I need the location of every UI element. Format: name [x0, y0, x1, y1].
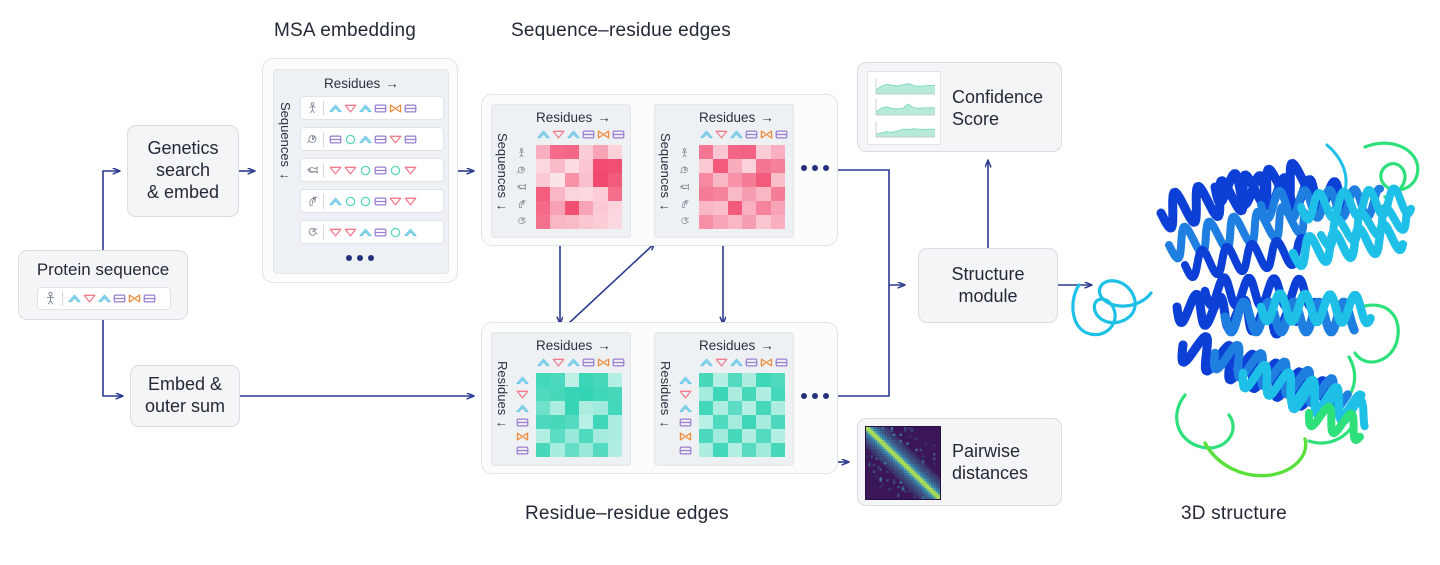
- heatmap-cell: [565, 215, 579, 229]
- heatmap-cell: [565, 401, 579, 415]
- residue-glyph-bow: [759, 127, 774, 142]
- strip-divider: [323, 163, 324, 178]
- residue-glyph-up: [403, 225, 418, 240]
- heatmap-cell: [771, 201, 785, 215]
- msa-row: [300, 189, 444, 213]
- heatmap-cell: [713, 173, 727, 187]
- organism-icon-bird: [516, 198, 527, 210]
- sr2-axis-top: Residues →: [699, 110, 774, 125]
- heatmap-cell: [728, 443, 742, 457]
- residue-glyph-row: [328, 194, 418, 209]
- organism-icon-worm: [516, 215, 527, 227]
- heatmap-cell: [565, 201, 579, 215]
- side-residue: [515, 429, 532, 443]
- heatmap-cell: [728, 187, 742, 201]
- heatmap-cell: [728, 173, 742, 187]
- heatmap-cell: [608, 373, 622, 387]
- organism-icon-mouse: [516, 164, 527, 176]
- heatmap-cell: [550, 373, 564, 387]
- residue-glyph-up: [328, 101, 343, 116]
- organism-icon-human: [516, 147, 527, 159]
- side-residue: [515, 387, 532, 401]
- heatmap-cell: [579, 201, 593, 215]
- heatmap-cell: [536, 443, 550, 457]
- sr1-axis-left: Sequences ↓: [495, 133, 510, 231]
- heatmap-cell: [699, 443, 713, 457]
- heatmap-cell: [699, 401, 713, 415]
- heatmap-cell: [550, 415, 564, 429]
- msa-axis-top-label: Residues: [324, 76, 380, 91]
- pairwise-distances-box[interactable]: Pairwise distances: [857, 418, 1062, 506]
- protein-ribbon-svg: [1065, 95, 1440, 485]
- heatmap-cell: [608, 187, 622, 201]
- heatmap-cell: [536, 201, 550, 215]
- sr2-axis-top-label: Residues: [699, 110, 755, 125]
- arrow-down-icon: ↓: [495, 421, 510, 428]
- heatmap-cell: [771, 415, 785, 429]
- heatmap-cell: [713, 387, 727, 401]
- sr1-side-organisms: [516, 145, 532, 229]
- heatmap-cell: [771, 373, 785, 387]
- heatmap-cell: [565, 429, 579, 443]
- heatmap-cell: [728, 387, 742, 401]
- caption-msa-embedding: MSA embedding: [274, 20, 416, 42]
- sr1-axis-top: Residues →: [536, 110, 611, 125]
- protein-sequence-box: Protein sequence: [18, 250, 188, 320]
- residue-glyph-up: [536, 127, 551, 142]
- heatmap-cell: [713, 429, 727, 443]
- heatmap-cell: [608, 159, 622, 173]
- heatmap-cell: [579, 145, 593, 159]
- residue-glyph-down: [343, 101, 358, 116]
- residue-glyph-rect: [678, 443, 693, 458]
- rr2-axis-left: Residues ↓: [658, 361, 673, 459]
- heatmap-cell: [536, 415, 550, 429]
- residue-glyph-down: [403, 194, 418, 209]
- confidence-score-box[interactable]: Confidence Score: [857, 62, 1062, 152]
- heatmap-cell: [728, 145, 742, 159]
- heatmap-cell: [550, 387, 564, 401]
- heatmap-cell: [579, 173, 593, 187]
- residue-residue-panel-1: Residues → Residues ↓: [491, 332, 631, 466]
- coil-loop: [1177, 395, 1233, 448]
- residue-glyph-up: [566, 127, 581, 142]
- organism-icon-fish: [516, 181, 527, 193]
- side-organism: [516, 162, 532, 179]
- residue-glyph-down: [403, 163, 418, 178]
- heatmap-cell: [699, 201, 713, 215]
- heatmap-cell: [608, 401, 622, 415]
- heatmap-cell: [713, 145, 727, 159]
- residue-glyph-down: [343, 163, 358, 178]
- heatmap-cell: [565, 159, 579, 173]
- side-organism: [679, 212, 695, 229]
- pairwise-distance-matrix-thumbnail: [865, 426, 941, 500]
- heatmap-cell: [742, 401, 756, 415]
- side-organism: [679, 179, 695, 196]
- heatmap-cell: [713, 159, 727, 173]
- sr1-axis-left-label: Sequences: [495, 133, 510, 198]
- residue-glyph-up: [678, 373, 693, 388]
- rr1-side-glyphs: [515, 373, 532, 457]
- residue-glyph-rect: [515, 415, 530, 430]
- heatmap-cell: [608, 145, 622, 159]
- arrow-right-icon: →: [385, 76, 399, 91]
- confidence-sparkline: [871, 120, 937, 139]
- residue-glyph-down: [678, 387, 693, 402]
- embed-and-outer-sum-box[interactable]: Embed & outer sum: [130, 365, 240, 427]
- sequence-residue-edges-container: Residues → Sequences ↓ Residues → Sequen…: [481, 94, 838, 246]
- heatmap-cell: [565, 387, 579, 401]
- heatmap-cell: [579, 401, 593, 415]
- heatmap-cell: [771, 401, 785, 415]
- rr1-heatmap: [536, 373, 622, 457]
- heatmap-cell: [756, 187, 770, 201]
- strip-divider: [323, 225, 324, 240]
- heatmap-cell: [550, 201, 564, 215]
- residue-glyph-rect: [373, 163, 388, 178]
- heatmap-cell: [756, 429, 770, 443]
- residue-glyph-rect: [774, 127, 789, 142]
- rr1-axis-top: Residues →: [536, 338, 611, 353]
- heatmap-cell: [536, 373, 550, 387]
- heatmap-cell: [742, 173, 756, 187]
- residue-glyph-circ: [388, 225, 403, 240]
- heatmap-cell: [742, 159, 756, 173]
- arrow-right-icon: →: [597, 110, 611, 125]
- side-residue: [678, 387, 695, 401]
- heatmap-cell: [713, 415, 727, 429]
- residue-glyph-rect: [611, 355, 626, 370]
- residue-glyph-circ: [343, 194, 358, 209]
- heatmap-cell: [579, 373, 593, 387]
- sr2-header-glyphs: [699, 127, 789, 142]
- heatmap-cell: [608, 443, 622, 457]
- structure-module-box[interactable]: Structure module: [918, 248, 1058, 323]
- rr2-heatmap: [699, 373, 785, 457]
- arrow-down-icon: ↓: [495, 204, 510, 211]
- heatmap-cell: [550, 215, 564, 229]
- residue-glyph-circ: [358, 163, 373, 178]
- heatmap-cell: [593, 443, 607, 457]
- heatmap-cell: [608, 173, 622, 187]
- organism-icon-human: [306, 101, 319, 115]
- residue-glyph-up: [729, 355, 744, 370]
- heatmap-cell: [756, 443, 770, 457]
- residue-glyph-rect: [744, 355, 759, 370]
- residue-glyph-up: [729, 127, 744, 142]
- heatmap-cell: [536, 173, 550, 187]
- residue-glyph-bow: [515, 429, 530, 444]
- heatmap-cell: [699, 173, 713, 187]
- heatmap-cell: [593, 173, 607, 187]
- heatmap-cell: [771, 443, 785, 457]
- heatmap-cell: [593, 159, 607, 173]
- genetics-search-and-embed-box[interactable]: Genetics search & embed: [127, 125, 239, 217]
- heatmap-cell: [579, 429, 593, 443]
- heatmap-cell: [536, 215, 550, 229]
- heatmap-cell: [593, 201, 607, 215]
- residue-glyph-bow: [678, 429, 693, 444]
- residue-glyph-up: [358, 101, 373, 116]
- residue-glyph-row-main: [67, 291, 157, 306]
- residue-glyph-rect: [403, 132, 418, 147]
- residue-glyph-down: [388, 132, 403, 147]
- heatmap-cell: [593, 387, 607, 401]
- msa-embedding-container: Residues → Sequences ↓: [262, 58, 458, 283]
- heatmap-cell: [771, 173, 785, 187]
- side-residue: [678, 443, 695, 457]
- heatmap-cell: [713, 401, 727, 415]
- caption-sequence-residue-edges: Sequence–residue edges: [511, 20, 731, 42]
- heatmap-cell: [565, 173, 579, 187]
- residue-glyph-rect: [373, 194, 388, 209]
- rr1-axis-top-label: Residues: [536, 338, 592, 353]
- side-organism: [516, 212, 532, 229]
- residue-glyph-rect: [611, 127, 626, 142]
- rr2-side-glyphs: [678, 373, 695, 457]
- residue-glyph-circ: [358, 194, 373, 209]
- heatmap-cell: [742, 387, 756, 401]
- heatmap-cell: [756, 415, 770, 429]
- heatmap-cell: [756, 387, 770, 401]
- confidence-sparkline: [871, 98, 937, 117]
- residue-glyph-up: [566, 355, 581, 370]
- side-residue: [678, 415, 695, 429]
- heatmap-cell: [593, 429, 607, 443]
- arrow-right-icon: →: [760, 110, 774, 125]
- side-residue: [678, 401, 695, 415]
- side-residue: [515, 415, 532, 429]
- heatmap-cell: [565, 443, 579, 457]
- heatmap-cell: [728, 429, 742, 443]
- heatmap-cell: [579, 387, 593, 401]
- msa-row: [300, 127, 444, 151]
- sr1-header-glyphs: [536, 127, 626, 142]
- heatmap-cell: [699, 415, 713, 429]
- arrow-down-icon: ↓: [658, 421, 673, 428]
- residue-glyph-down: [82, 291, 97, 306]
- residue-glyph-rect: [112, 291, 127, 306]
- heatmap-cell: [771, 187, 785, 201]
- strip-divider: [323, 101, 324, 116]
- residue-glyph-rect: [328, 132, 343, 147]
- heatmap-cell: [565, 145, 579, 159]
- organism-icon-fish: [306, 163, 319, 177]
- residue-glyph-down: [343, 225, 358, 240]
- heatmap-cell: [756, 145, 770, 159]
- heatmap-cell: [728, 159, 742, 173]
- heatmap-cell: [742, 429, 756, 443]
- heatmap-cell: [713, 201, 727, 215]
- heatmap-cell: [713, 215, 727, 229]
- organism-icon-mouse: [306, 132, 319, 146]
- heatmap-cell: [593, 373, 607, 387]
- side-organism: [679, 162, 695, 179]
- sr2-axis-left: Sequences ↓: [658, 133, 673, 231]
- heatmap-cell: [593, 401, 607, 415]
- rr1-axis-left: Residues ↓: [495, 361, 510, 459]
- strip-divider: [62, 291, 63, 306]
- heatmap-cell: [728, 201, 742, 215]
- residue-glyph-down: [714, 355, 729, 370]
- heatmap-cell: [771, 215, 785, 229]
- residue-residue-more-dots: [801, 393, 829, 399]
- residue-glyph-up: [328, 194, 343, 209]
- heatmap-cell: [771, 159, 785, 173]
- heatmap-cell: [579, 443, 593, 457]
- side-organism: [679, 145, 695, 162]
- heatmap-cell: [550, 401, 564, 415]
- pairwise-svg: [866, 427, 941, 500]
- residue-glyph-rect: [373, 132, 388, 147]
- heatmap-cell: [579, 215, 593, 229]
- sr1-axis-top-label: Residues: [536, 110, 592, 125]
- heatmap-cell: [579, 187, 593, 201]
- heatmap-cell: [565, 187, 579, 201]
- pairwise-distances-label: Pairwise distances: [952, 441, 1028, 485]
- heatmap-cell: [742, 443, 756, 457]
- msa-axis-left-label: Sequences: [278, 102, 293, 167]
- sr2-heatmap: [699, 145, 785, 229]
- heatmap-cell: [536, 145, 550, 159]
- residue-glyph-rect: [515, 443, 530, 458]
- heatmap-cell: [550, 429, 564, 443]
- sr2-side-organisms: [679, 145, 695, 229]
- diagram-canvas: MSA embedding Sequence–residue edges Res…: [0, 0, 1440, 565]
- residue-glyph-row: [328, 163, 418, 178]
- msa-axis-top: Residues →: [324, 76, 399, 91]
- side-organism: [516, 195, 532, 212]
- msa-row: [300, 158, 444, 182]
- residue-glyph-up: [515, 401, 530, 416]
- heatmap-cell: [536, 429, 550, 443]
- heatmap-cell: [699, 145, 713, 159]
- residue-glyph-up: [699, 127, 714, 142]
- heatmap-cell: [579, 159, 593, 173]
- heatmap-cell: [756, 373, 770, 387]
- msa-inner-panel: Residues → Sequences ↓: [273, 69, 449, 274]
- heatmap-cell: [699, 187, 713, 201]
- msa-row: [300, 96, 444, 120]
- side-organism: [679, 195, 695, 212]
- heatmap-cell: [756, 201, 770, 215]
- residue-glyph-rect: [744, 127, 759, 142]
- heatmap-cell: [593, 187, 607, 201]
- side-residue: [678, 373, 695, 387]
- side-residue: [515, 373, 532, 387]
- heatmap-cell: [536, 401, 550, 415]
- residue-glyph-up: [97, 291, 112, 306]
- residue-glyph-down: [388, 194, 403, 209]
- residue-glyph-up: [358, 225, 373, 240]
- heatmap-cell: [608, 215, 622, 229]
- sr2-axis-left-label: Sequences: [658, 133, 673, 198]
- heatmap-cell: [593, 215, 607, 229]
- confidence-sparklines-thumbnail: [867, 71, 941, 145]
- residue-glyph-up: [515, 373, 530, 388]
- residue-glyph-row: [328, 132, 418, 147]
- protein-sequence-label: Protein sequence: [19, 260, 187, 280]
- sr1-heatmap: [536, 145, 622, 229]
- heatmap-cell: [699, 159, 713, 173]
- side-residue: [515, 401, 532, 415]
- side-organism: [516, 179, 532, 196]
- heatmap-cell: [742, 215, 756, 229]
- organism-icon-mouse: [679, 164, 690, 176]
- residue-glyph-rect: [403, 101, 418, 116]
- msa-row: [300, 220, 444, 244]
- coil-loop: [1073, 281, 1151, 335]
- heatmap-cell: [579, 415, 593, 429]
- residue-glyph-down: [515, 387, 530, 402]
- heatmap-cell: [608, 387, 622, 401]
- rr2-axis-top-label: Residues: [699, 338, 755, 353]
- residue-glyph-down: [551, 355, 566, 370]
- heatmap-cell: [713, 187, 727, 201]
- residue-glyph-circ: [343, 132, 358, 147]
- caption-residue-residue-edges: Residue–residue edges: [525, 503, 729, 525]
- confidence-score-label: Confidence Score: [952, 87, 1043, 131]
- residue-glyph-down: [551, 127, 566, 142]
- msa-axis-left: Sequences ↓: [278, 102, 293, 252]
- heatmap-cell: [550, 173, 564, 187]
- organism-icon-human: [679, 147, 690, 159]
- heatmap-cell: [536, 159, 550, 173]
- residue-glyph-up: [678, 401, 693, 416]
- organism-icon-fish: [679, 181, 690, 193]
- rr1-axis-left-label: Residues: [495, 361, 510, 415]
- heatmap-cell: [771, 145, 785, 159]
- heatmap-cell: [756, 215, 770, 229]
- residue-glyph-up: [67, 291, 82, 306]
- heatmap-cell: [771, 387, 785, 401]
- heatmap-cell: [699, 373, 713, 387]
- heatmap-cell: [756, 173, 770, 187]
- heatmap-cell: [565, 373, 579, 387]
- msa-row-list: [300, 96, 444, 251]
- side-residue: [678, 429, 695, 443]
- heatmap-cell: [728, 215, 742, 229]
- arrow-down-icon: ↓: [278, 173, 293, 180]
- residue-glyph-bow: [596, 355, 611, 370]
- caption-3d-structure: 3D structure: [1181, 503, 1287, 525]
- residue-glyph-down: [328, 163, 343, 178]
- residue-glyph-down: [328, 225, 343, 240]
- heatmap-cell: [756, 401, 770, 415]
- arrow-right-icon: →: [597, 338, 611, 353]
- heatmap-cell: [536, 187, 550, 201]
- residue-glyph-rect: [774, 355, 789, 370]
- heatmap-cell: [742, 187, 756, 201]
- residue-glyph-row: [328, 101, 418, 116]
- heatmap-cell: [713, 373, 727, 387]
- residue-glyph-circ: [388, 163, 403, 178]
- structure-module-label: Structure module: [919, 249, 1057, 322]
- heatmap-cell: [550, 443, 564, 457]
- residue-glyph-up: [358, 132, 373, 147]
- residue-glyph-rect: [581, 355, 596, 370]
- heatmap-cell: [608, 429, 622, 443]
- organism-icon-human: [43, 290, 58, 307]
- heatmap-cell: [728, 373, 742, 387]
- organism-icon-worm: [679, 215, 690, 227]
- strip-divider: [323, 194, 324, 209]
- strip-divider: [323, 132, 324, 147]
- heatmap-cell: [756, 159, 770, 173]
- confidence-sparkline: [871, 77, 937, 96]
- heatmap-cell: [713, 443, 727, 457]
